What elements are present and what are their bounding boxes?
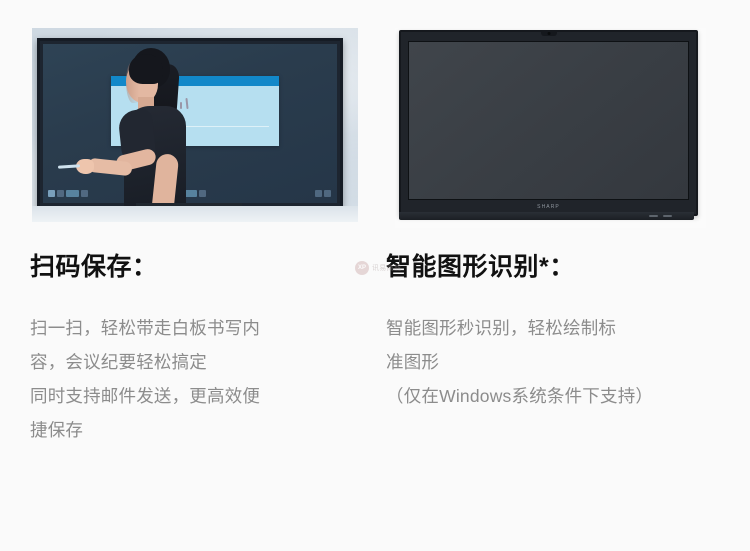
brand-logo: SHARP [537, 204, 560, 210]
body-scan-save: 扫一扫，轻松带走白板书写内 容，会议纪要轻松搞定 同时支持邮件发送，更高效便 捷… [30, 283, 360, 447]
camera-icon [541, 31, 557, 36]
body-shape-recognition: 智能图形秒识别，轻松绘制标 准图形 （仅在Windows系统条件下支持） [386, 283, 726, 413]
body-line: 扫一扫，轻松带走白板书写内 [30, 311, 360, 345]
taskbar-icon [324, 190, 331, 197]
body-line: （仅在Windows系统条件下支持） [386, 379, 726, 413]
body-line: 智能图形秒识别，轻松绘制标 [386, 311, 726, 345]
taskbar-left-icons [48, 189, 88, 198]
taskbar-right-icons [315, 189, 331, 198]
heading-shape-recognition: 智能图形识别*： [386, 240, 726, 283]
presenter-person [118, 48, 214, 222]
body-line: 同时支持邮件发送，更高效便 [30, 379, 360, 413]
column-scan-save: 扫码保存： 扫一扫，轻松带走白板书写内 容，会议纪要轻松搞定 同时支持邮件发送，… [30, 240, 360, 447]
taskbar-icon [57, 190, 64, 197]
heading-scan-save: 扫码保存： [30, 240, 360, 283]
media-row: SHARP [0, 0, 750, 235]
page-root: SHARP 扫码保存： 扫一扫，轻松带走白板书写内 容，会议纪要轻松搞定 同时支… [0, 0, 750, 551]
taskbar-icon [315, 190, 322, 197]
display-panel-base [399, 212, 694, 220]
floor [32, 206, 358, 222]
body-line: 容，会议纪要轻松搞定 [30, 345, 360, 379]
hair-front [129, 54, 163, 84]
display-panel-bezel: SHARP [399, 30, 698, 216]
body-line: 捷保存 [30, 413, 360, 447]
taskbar-icon [48, 190, 55, 197]
speaker-vents [649, 215, 672, 217]
column-shape-recognition: 智能图形识别*： 智能图形秒识别，轻松绘制标 准图形 （仅在Windows系统条… [386, 240, 726, 413]
display-panel-screen [408, 41, 689, 200]
photo-whiteboard-presentation [32, 28, 358, 222]
taskbar-icon [81, 190, 88, 197]
taskbar-icon [66, 190, 79, 197]
body-line: 准图形 [386, 345, 726, 379]
photo-display-panel: SHARP [395, 28, 706, 228]
